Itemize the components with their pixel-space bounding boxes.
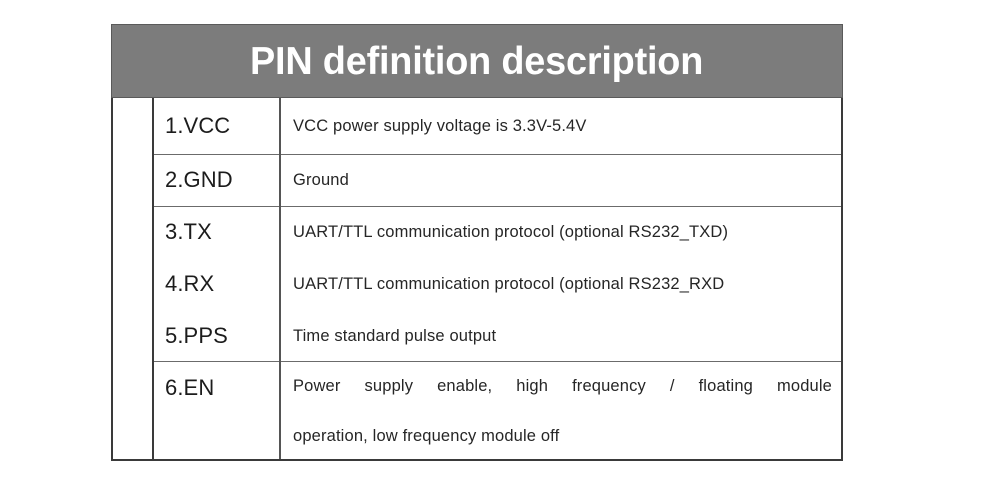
table-row-group-tx-rx-pps: 3.TX 4.RX 5.PPS [154, 207, 279, 362]
pin-description-line-1: Power supply enable, high frequency / fl… [293, 362, 832, 411]
word: Power [293, 362, 341, 411]
pin-definition-table: PIN definition description 1.VCC 2.GND 3… [111, 24, 843, 461]
table-row: 6.EN [154, 362, 279, 459]
pin-label: 4.RX [154, 258, 279, 310]
word: frequency [572, 362, 646, 411]
table-row: 2.GND [154, 155, 279, 207]
pin-name-column: 1.VCC 2.GND 3.TX 4.RX 5.PPS 6.EN [154, 98, 281, 459]
pin-label: 1.VCC [165, 114, 230, 138]
table-body: 1.VCC 2.GND 3.TX 4.RX 5.PPS 6.EN VC [111, 98, 843, 461]
table-row-group-tx-rx-pps-descriptions: UART/TTL communication protocol (optiona… [281, 207, 841, 362]
word: enable, [437, 362, 492, 411]
table-header-banner: PIN definition description [111, 24, 843, 98]
word: supply [365, 362, 414, 411]
word: high [516, 362, 548, 411]
table-row: Ground [281, 155, 841, 207]
pin-label: 5.PPS [154, 310, 279, 362]
pin-description: Ground [293, 170, 349, 191]
word: floating [699, 362, 753, 411]
pin-description-line-2: operation, low frequency module off [293, 411, 832, 460]
screenshot-root: PIN definition description 1.VCC 2.GND 3… [0, 0, 1000, 479]
word: module [777, 362, 832, 411]
pin-label: 3.TX [154, 207, 279, 258]
table-row: VCC power supply voltage is 3.3V-5.4V [281, 98, 841, 155]
pin-label: 6.EN [165, 376, 214, 400]
description-column: VCC power supply voltage is 3.3V-5.4V Gr… [281, 98, 841, 459]
pin-label: 2.GND [165, 168, 233, 192]
left-spacer-column [113, 98, 154, 459]
pin-description: UART/TTL communication protocol (optiona… [281, 258, 841, 310]
pin-description: Time standard pulse output [281, 310, 841, 362]
pin-description: VCC power supply voltage is 3.3V-5.4V [293, 116, 587, 137]
table-row: Power supply enable, high frequency / fl… [281, 362, 841, 459]
page-title: PIN definition description [250, 42, 703, 81]
table-row: 1.VCC [154, 98, 279, 155]
pin-description: UART/TTL communication protocol (optiona… [281, 207, 841, 258]
word: / [670, 362, 675, 411]
